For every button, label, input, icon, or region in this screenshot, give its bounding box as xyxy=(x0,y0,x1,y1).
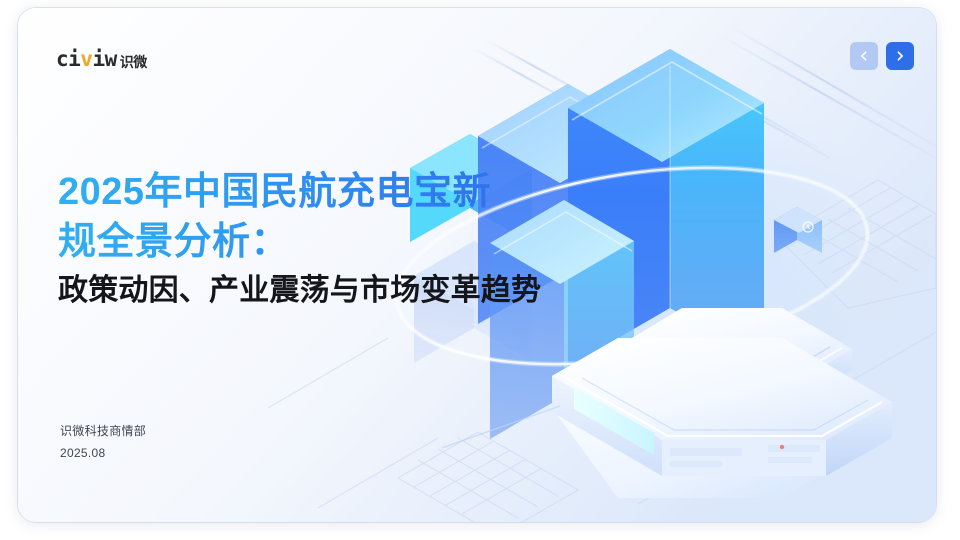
next-slide-button[interactable] xyxy=(886,42,914,70)
logo-latin-before: ci xyxy=(56,47,80,71)
page-subtitle: 政策动因、产业震荡与市场变革趋势 xyxy=(58,271,598,310)
platform-base-tier xyxy=(552,338,892,498)
floating-cube xyxy=(774,207,822,253)
chevron-right-icon xyxy=(894,50,906,62)
logo-accent-letter: v xyxy=(80,47,92,71)
logo-latin-after: iw xyxy=(92,47,116,71)
logo-latin-text: civiw xyxy=(56,49,117,70)
brand-logo: civiw 识微 xyxy=(56,46,147,72)
slide-card: civiw 识微 2025年中国民航充电宝新 规全景分析： 政策动因、产业震荡与… xyxy=(18,8,936,522)
page-title-line-1: 2025年中国民航充电宝新 xyxy=(58,168,598,218)
footer-date: 2025.08 xyxy=(60,442,146,464)
previous-slide-button[interactable] xyxy=(850,42,878,70)
chevron-left-icon xyxy=(858,50,870,62)
logo-chinese-text: 识微 xyxy=(120,55,147,69)
footer-department: 识微科技商情部 xyxy=(60,420,146,442)
page-title-line-2: 规全景分析： xyxy=(58,218,598,268)
slide-navigation xyxy=(850,42,914,70)
title-block: 2025年中国民航充电宝新 规全景分析： 政策动因、产业震荡与市场变革趋势 xyxy=(58,168,598,310)
platform-upper-tier xyxy=(632,308,852,409)
footer-block: 识微科技商情部 2025.08 xyxy=(60,420,146,464)
